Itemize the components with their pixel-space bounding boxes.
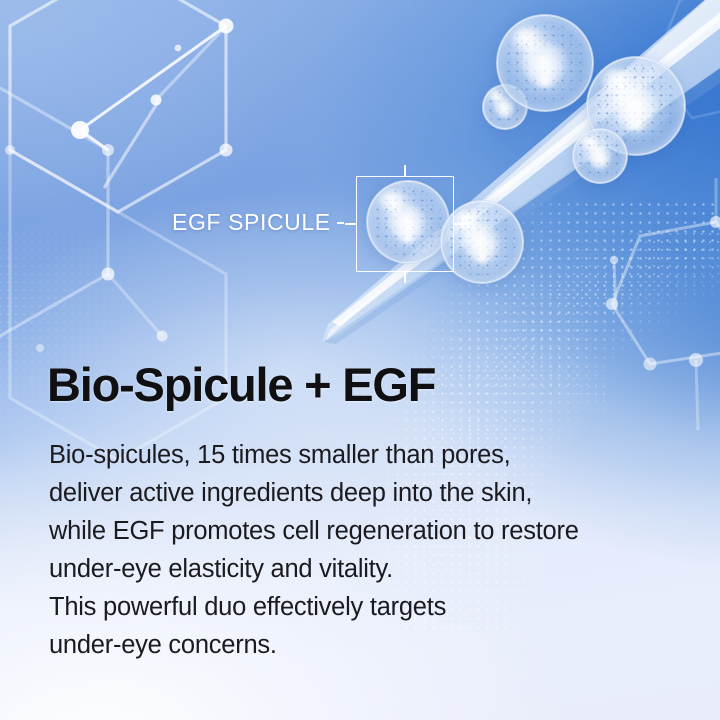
reticle-tick-right — [453, 223, 465, 225]
body-line: Bio-spicules, 15 times smaller than pore… — [49, 436, 689, 474]
body-line: This powerful duo effectively targets — [49, 588, 689, 626]
callout-label-egf-spicule: EGF SPICULE — [172, 209, 331, 236]
reticle-tick-left — [345, 223, 357, 225]
body-line: under-eye concerns. — [49, 626, 689, 664]
body-line: under-eye elasticity and vitality. — [49, 550, 689, 588]
reticle-tick-bottom — [404, 271, 406, 283]
crosshair-reticle-icon — [356, 176, 454, 272]
body-copy: Bio-spicules, 15 times smaller than pore… — [49, 436, 689, 664]
bubble-glint — [626, 118, 646, 132]
spicule-sphere-small-lower — [572, 128, 628, 184]
page-title: Bio-Spicule + EGF — [47, 357, 435, 412]
body-line: deliver active ingredients deep into the… — [49, 474, 689, 512]
bubble-rim — [497, 15, 593, 111]
body-line: while EGF promotes cell regeneration to … — [49, 512, 689, 550]
callout-leader-line — [337, 222, 344, 224]
spicule-sphere-large-upper — [496, 14, 594, 112]
bubble-glint — [474, 252, 491, 264]
bubble-rim — [573, 129, 627, 183]
reticle-tick-top — [404, 165, 406, 177]
product-graphic-canvas: EGF SPICULE Bio-Spicule + EGF Bio-spicul… — [0, 0, 720, 720]
